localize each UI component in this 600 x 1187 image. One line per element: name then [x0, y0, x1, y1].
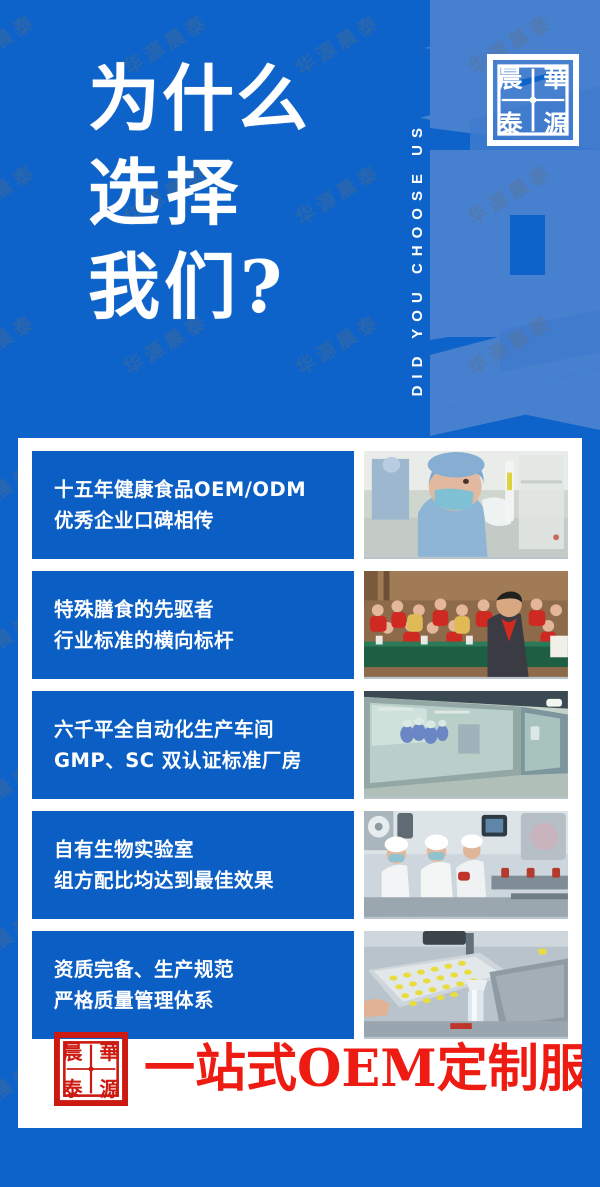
page-title: 为什么 选择 我们? [88, 52, 388, 334]
bottom-cta-text: 一站式OEM定制服务 [144, 1039, 582, 1099]
bottom-cta-banner: 晨 華 泰 源 一站式OEM定制服务 [32, 1023, 568, 1115]
feature-card[interactable]: 六千平全自动化生产车间 GMP、SC 双认证标准厂房 [32, 691, 568, 799]
feature-line-1: 特殊膳食的先驱者 [54, 594, 346, 625]
conference-audience-photo [364, 571, 568, 679]
seal-red-char-3: 泰 [54, 1069, 91, 1106]
header-section: 为什么 选择 我们? DID YOU CHOOSE US 晨 華 泰 源 [0, 0, 600, 438]
production-line-workers-photo [364, 811, 568, 919]
feature-card[interactable]: 自有生物实验室 组方配比均达到最佳效果 [32, 811, 568, 919]
feature-card-list: 十五年健康食品OEM/ODM 优秀企业口碑相传 [32, 451, 568, 1039]
seal-white-char-1: 晨 [487, 54, 533, 100]
vertical-tagline: DID YOU CHOOSE US [400, 18, 434, 396]
seal-red-char-4: 源 [91, 1069, 128, 1106]
feature-line-1: 六千平全自动化生产车间 [54, 714, 346, 745]
seal-white-char-3: 泰 [487, 100, 533, 146]
headline-line-1: 为什么 [88, 52, 388, 146]
company-seal-logo-white: 晨 華 泰 源 [487, 54, 579, 146]
headline-line-2: 选择 [88, 146, 388, 240]
seal-red-char-2: 華 [91, 1032, 128, 1069]
vertical-tagline-text: DID YOU CHOOSE US [409, 121, 426, 396]
feature-card[interactable]: 特殊膳食的先驱者 行业标准的横向标杆 [32, 571, 568, 679]
feature-card-text: 自有生物实验室 组方配比均达到最佳效果 [32, 811, 354, 919]
poster-root: 为什么 选择 我们? DID YOU CHOOSE US 晨 華 泰 源 [0, 0, 600, 1187]
headline-line-3: 我们? [88, 240, 388, 334]
lab-technician-photo [364, 451, 568, 559]
feature-line-2: GMP、SC 双认证标准厂房 [54, 745, 346, 776]
feature-line-1: 十五年健康食品OEM/ODM [54, 474, 346, 505]
seal-white-char-2: 華 [533, 54, 579, 100]
feature-card-text: 六千平全自动化生产车间 GMP、SC 双认证标准厂房 [32, 691, 354, 799]
feature-line-2: 优秀企业口碑相传 [54, 505, 346, 536]
features-panel: 十五年健康食品OEM/ODM 优秀企业口碑相传 [18, 438, 582, 1128]
seal-white-char-4: 源 [533, 100, 579, 146]
feature-card-text: 十五年健康食品OEM/ODM 优秀企业口碑相传 [32, 451, 354, 559]
seal-red-char-1: 晨 [54, 1032, 91, 1069]
feature-card[interactable]: 十五年健康食品OEM/ODM 优秀企业口碑相传 [32, 451, 568, 559]
cleanroom-corridor-photo [364, 691, 568, 799]
feature-line-1: 资质完备、生产规范 [54, 954, 346, 985]
feature-line-2: 严格质量管理体系 [54, 985, 346, 1016]
feature-card-text: 特殊膳食的先驱者 行业标准的横向标杆 [32, 571, 354, 679]
feature-line-1: 自有生物实验室 [54, 834, 346, 865]
company-seal-logo-red: 晨 華 泰 源 [54, 1032, 128, 1106]
feature-line-2: 组方配比均达到最佳效果 [54, 865, 346, 896]
feature-line-2: 行业标准的横向标杆 [54, 625, 346, 656]
